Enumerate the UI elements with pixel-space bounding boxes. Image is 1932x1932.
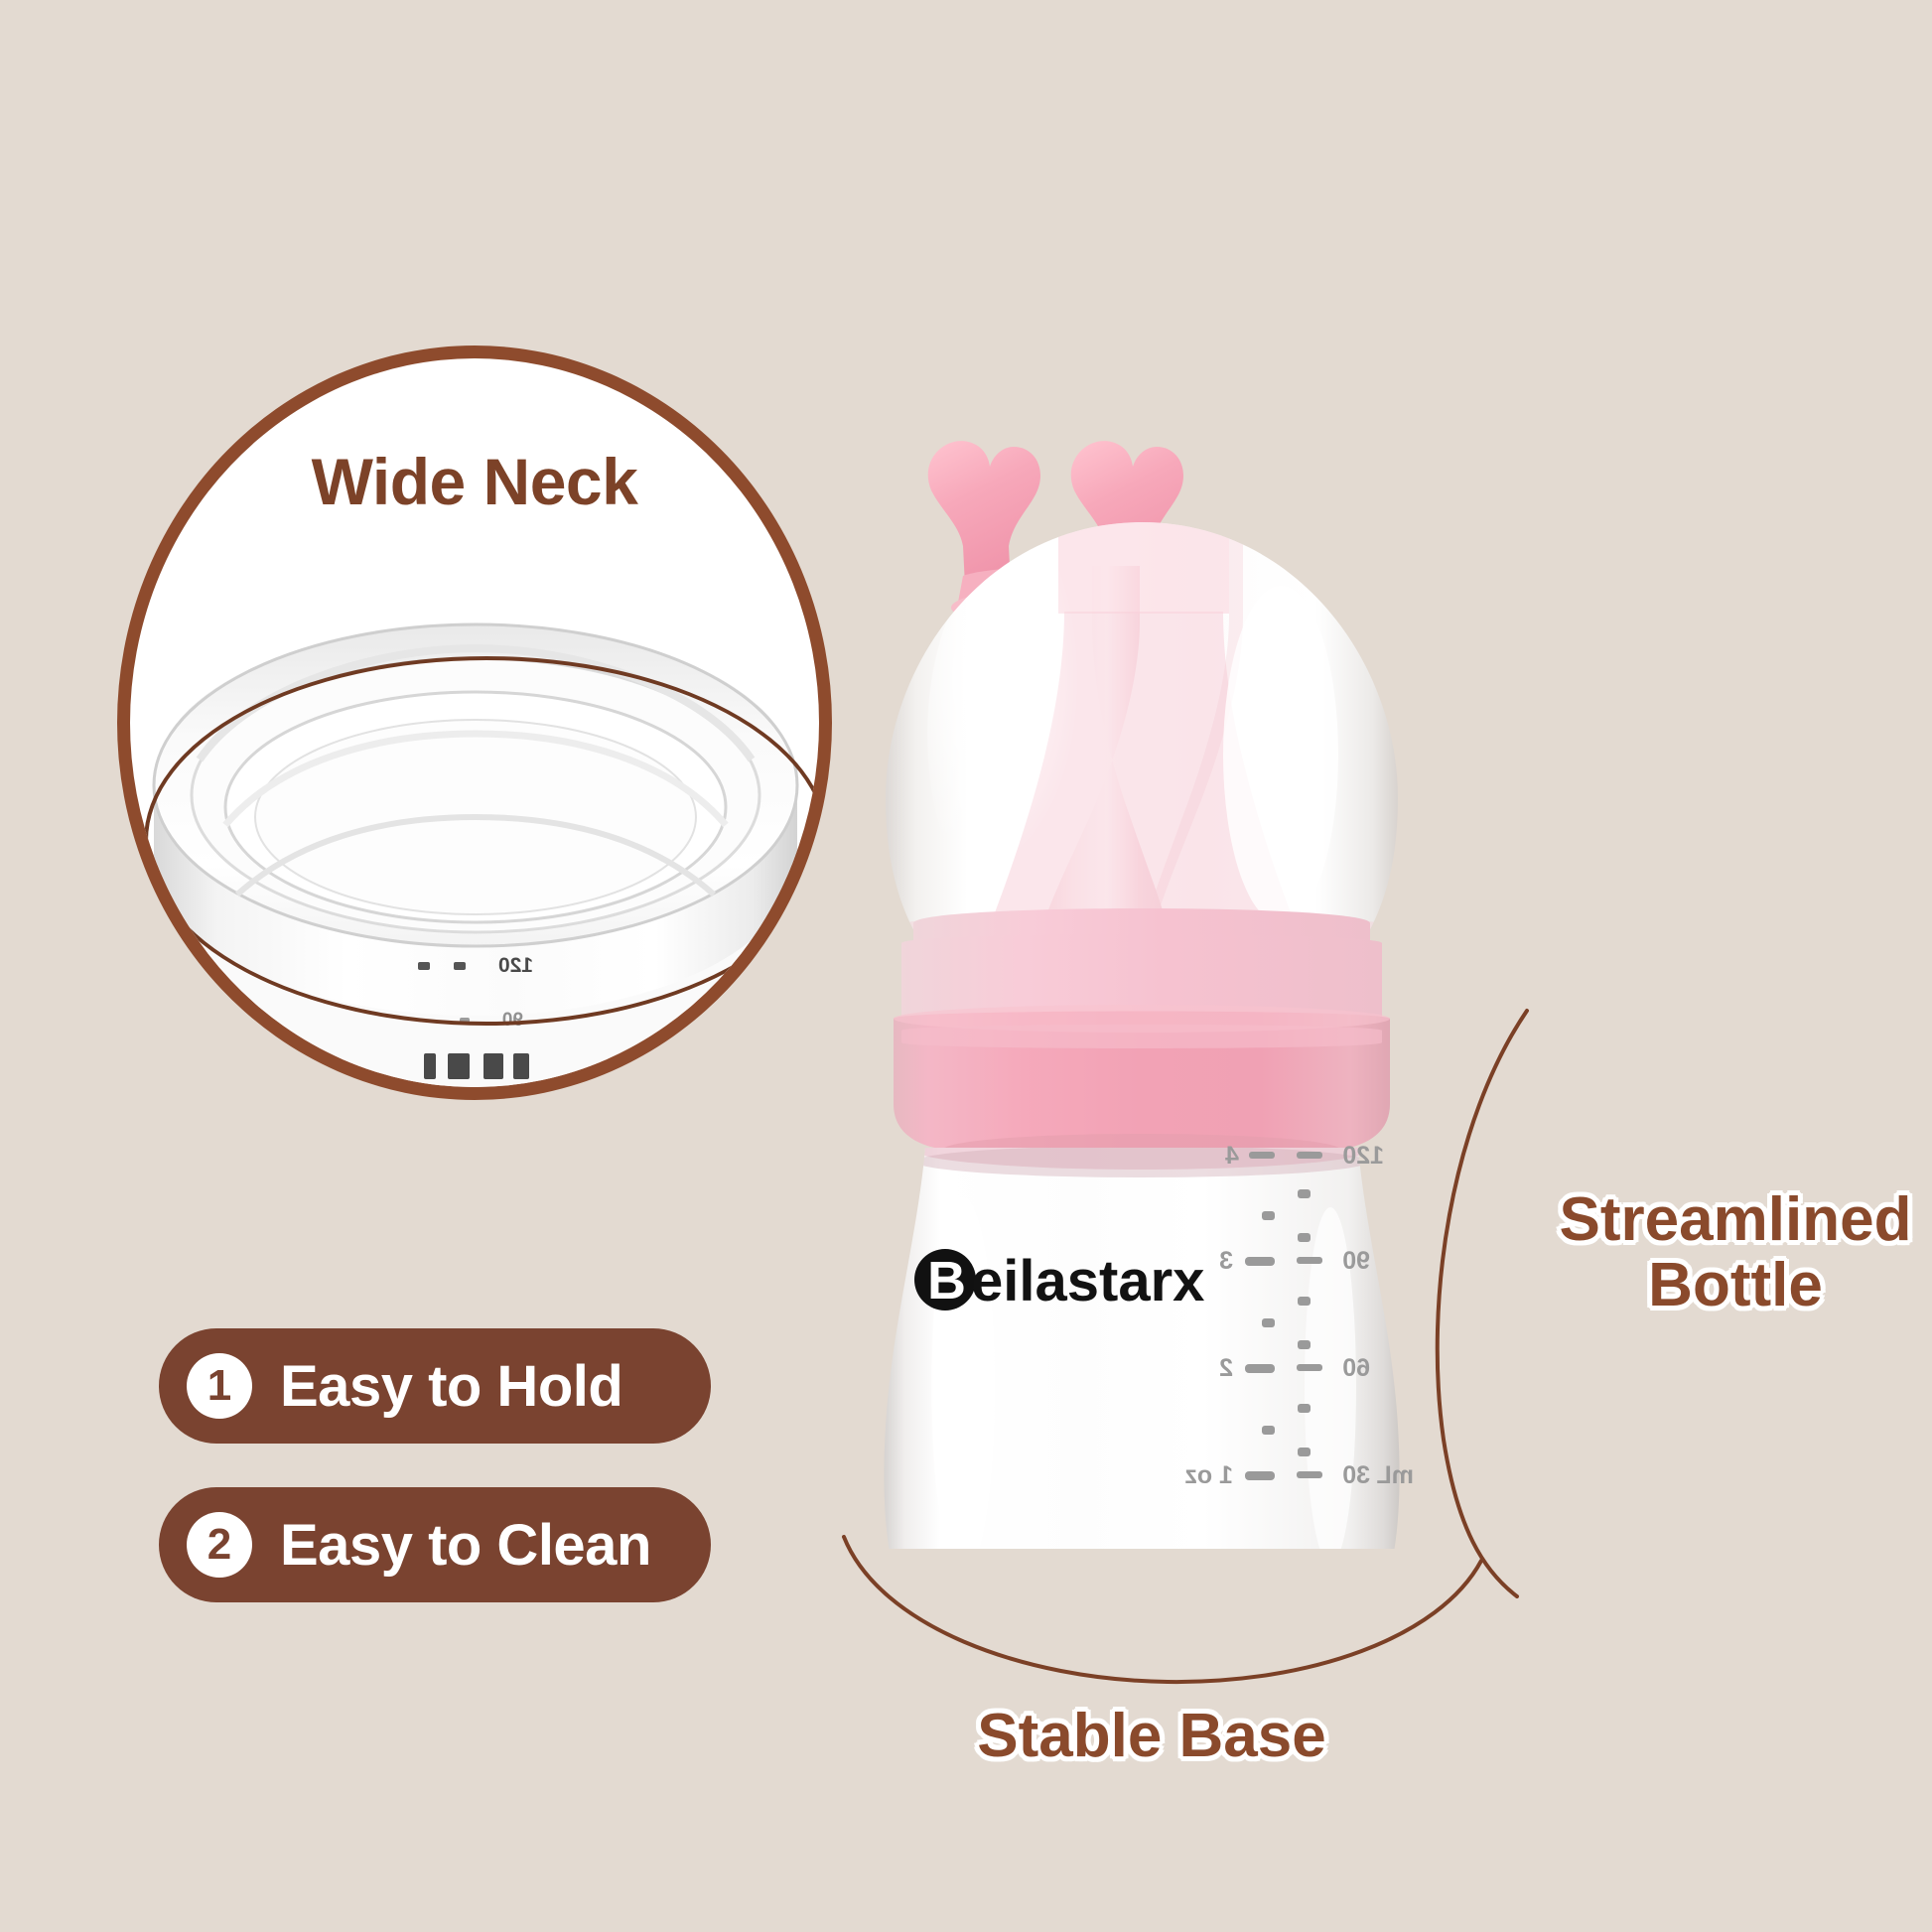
svg-text:90: 90 [502,1010,523,1031]
infographic-canvas: 120 4 90 3 60 2 mL 30 [0,0,1932,1932]
callout-title: Wide Neck [130,444,819,519]
wide-neck-callout: 120 90 Wide Neck [117,345,832,1100]
feature-pill-easy-to-hold[interactable]: 1 Easy to Hold [159,1328,711,1444]
brand-logo: B eilastarx [914,1249,1204,1313]
product-bottle-image: 120 4 90 3 60 2 mL 30 [814,427,1469,1549]
svg-text:120: 120 [1342,1142,1384,1170]
svg-text:1 oz: 1 oz [1184,1461,1233,1489]
svg-text:2: 2 [1219,1354,1233,1382]
svg-text:mL 30: mL 30 [1342,1461,1414,1489]
svg-text:3: 3 [1219,1247,1233,1275]
feature-label: Easy to Clean [280,1512,651,1579]
caption-streamlined-bottle: Streamlined Bottle [1527,1187,1932,1317]
feature-number-badge: 1 [187,1353,252,1419]
caption-stable-base: Stable Base [923,1704,1380,1769]
svg-text:120: 120 [498,954,533,977]
caption-line-1: Streamlined [1527,1187,1932,1253]
svg-text:90: 90 [1342,1247,1370,1275]
feature-label: Easy to Hold [280,1353,622,1420]
feature-number-badge: 2 [187,1512,252,1578]
svg-text:4: 4 [1225,1142,1239,1170]
feature-pill-easy-to-clean[interactable]: 2 Easy to Clean [159,1487,711,1602]
svg-text:60: 60 [1342,1354,1370,1382]
pink-collar-ring [894,908,1390,1166]
caption-line-2: Bottle [1527,1253,1932,1318]
svg-text:B: B [927,1251,966,1311]
brand-logo-text: eilastarx [971,1249,1204,1313]
